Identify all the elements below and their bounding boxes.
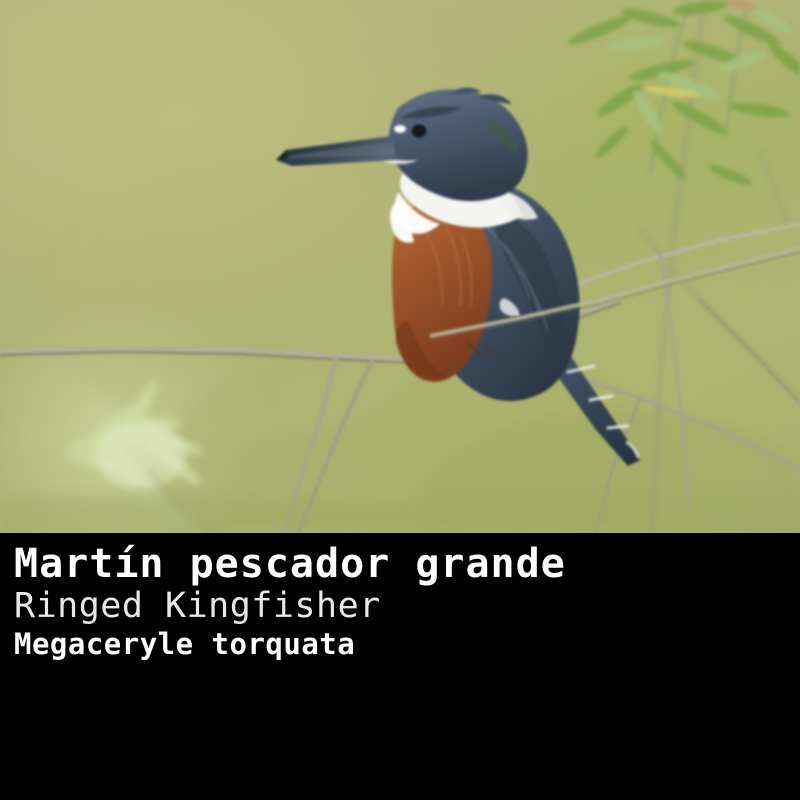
photo-vignette	[0, 0, 800, 533]
species-title-block: Martín pescador grande Ringed Kingfisher…	[14, 542, 589, 667]
caption-bar: Martín pescador grande Ringed Kingfisher…	[0, 533, 800, 800]
scientific-name-title: Megaceryle torquata	[14, 626, 589, 662]
english-name-title: Ringed Kingfisher	[14, 586, 589, 626]
photo-caption-card: Martín pescador grande Ringed Kingfisher…	[0, 0, 800, 800]
common-name-title: Martín pescador grande	[14, 542, 589, 586]
bird-photograph	[0, 0, 800, 533]
